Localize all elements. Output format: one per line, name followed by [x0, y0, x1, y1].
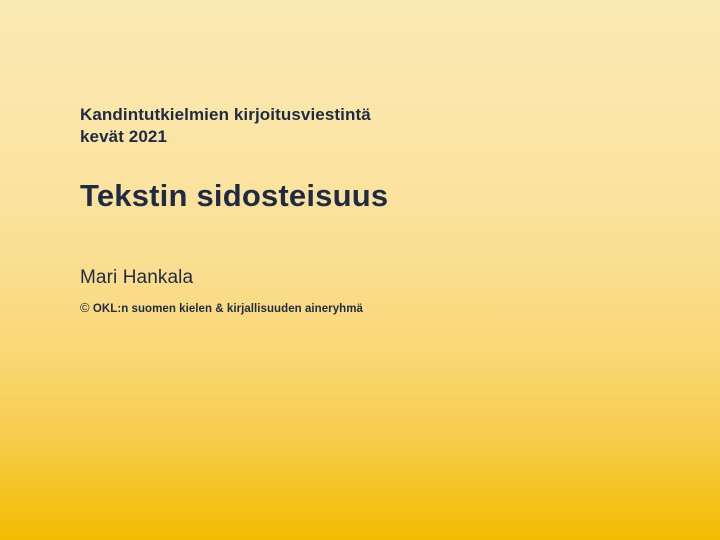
credit-text: OKL:n suomen kielen & kirjallisuuden ain…: [93, 303, 363, 315]
course-heading: Kandintutkielmien kirjoitusviestintä kev…: [80, 104, 680, 149]
page-title: Tekstin sidosteisuus: [80, 179, 680, 213]
copyright-icon: ©: [80, 300, 90, 315]
course-title-line: Kandintutkielmien kirjoitusviestintä: [80, 104, 680, 126]
author-name: Mari Hankala: [80, 267, 680, 289]
presentation-slide: Kandintutkielmien kirjoitusviestintä kev…: [0, 0, 720, 540]
slide-content: Kandintutkielmien kirjoitusviestintä kev…: [80, 104, 680, 315]
copyright-credit: © OKL:n suomen kielen & kirjallisuuden a…: [80, 300, 680, 315]
course-term-line: kevät 2021: [80, 126, 680, 148]
